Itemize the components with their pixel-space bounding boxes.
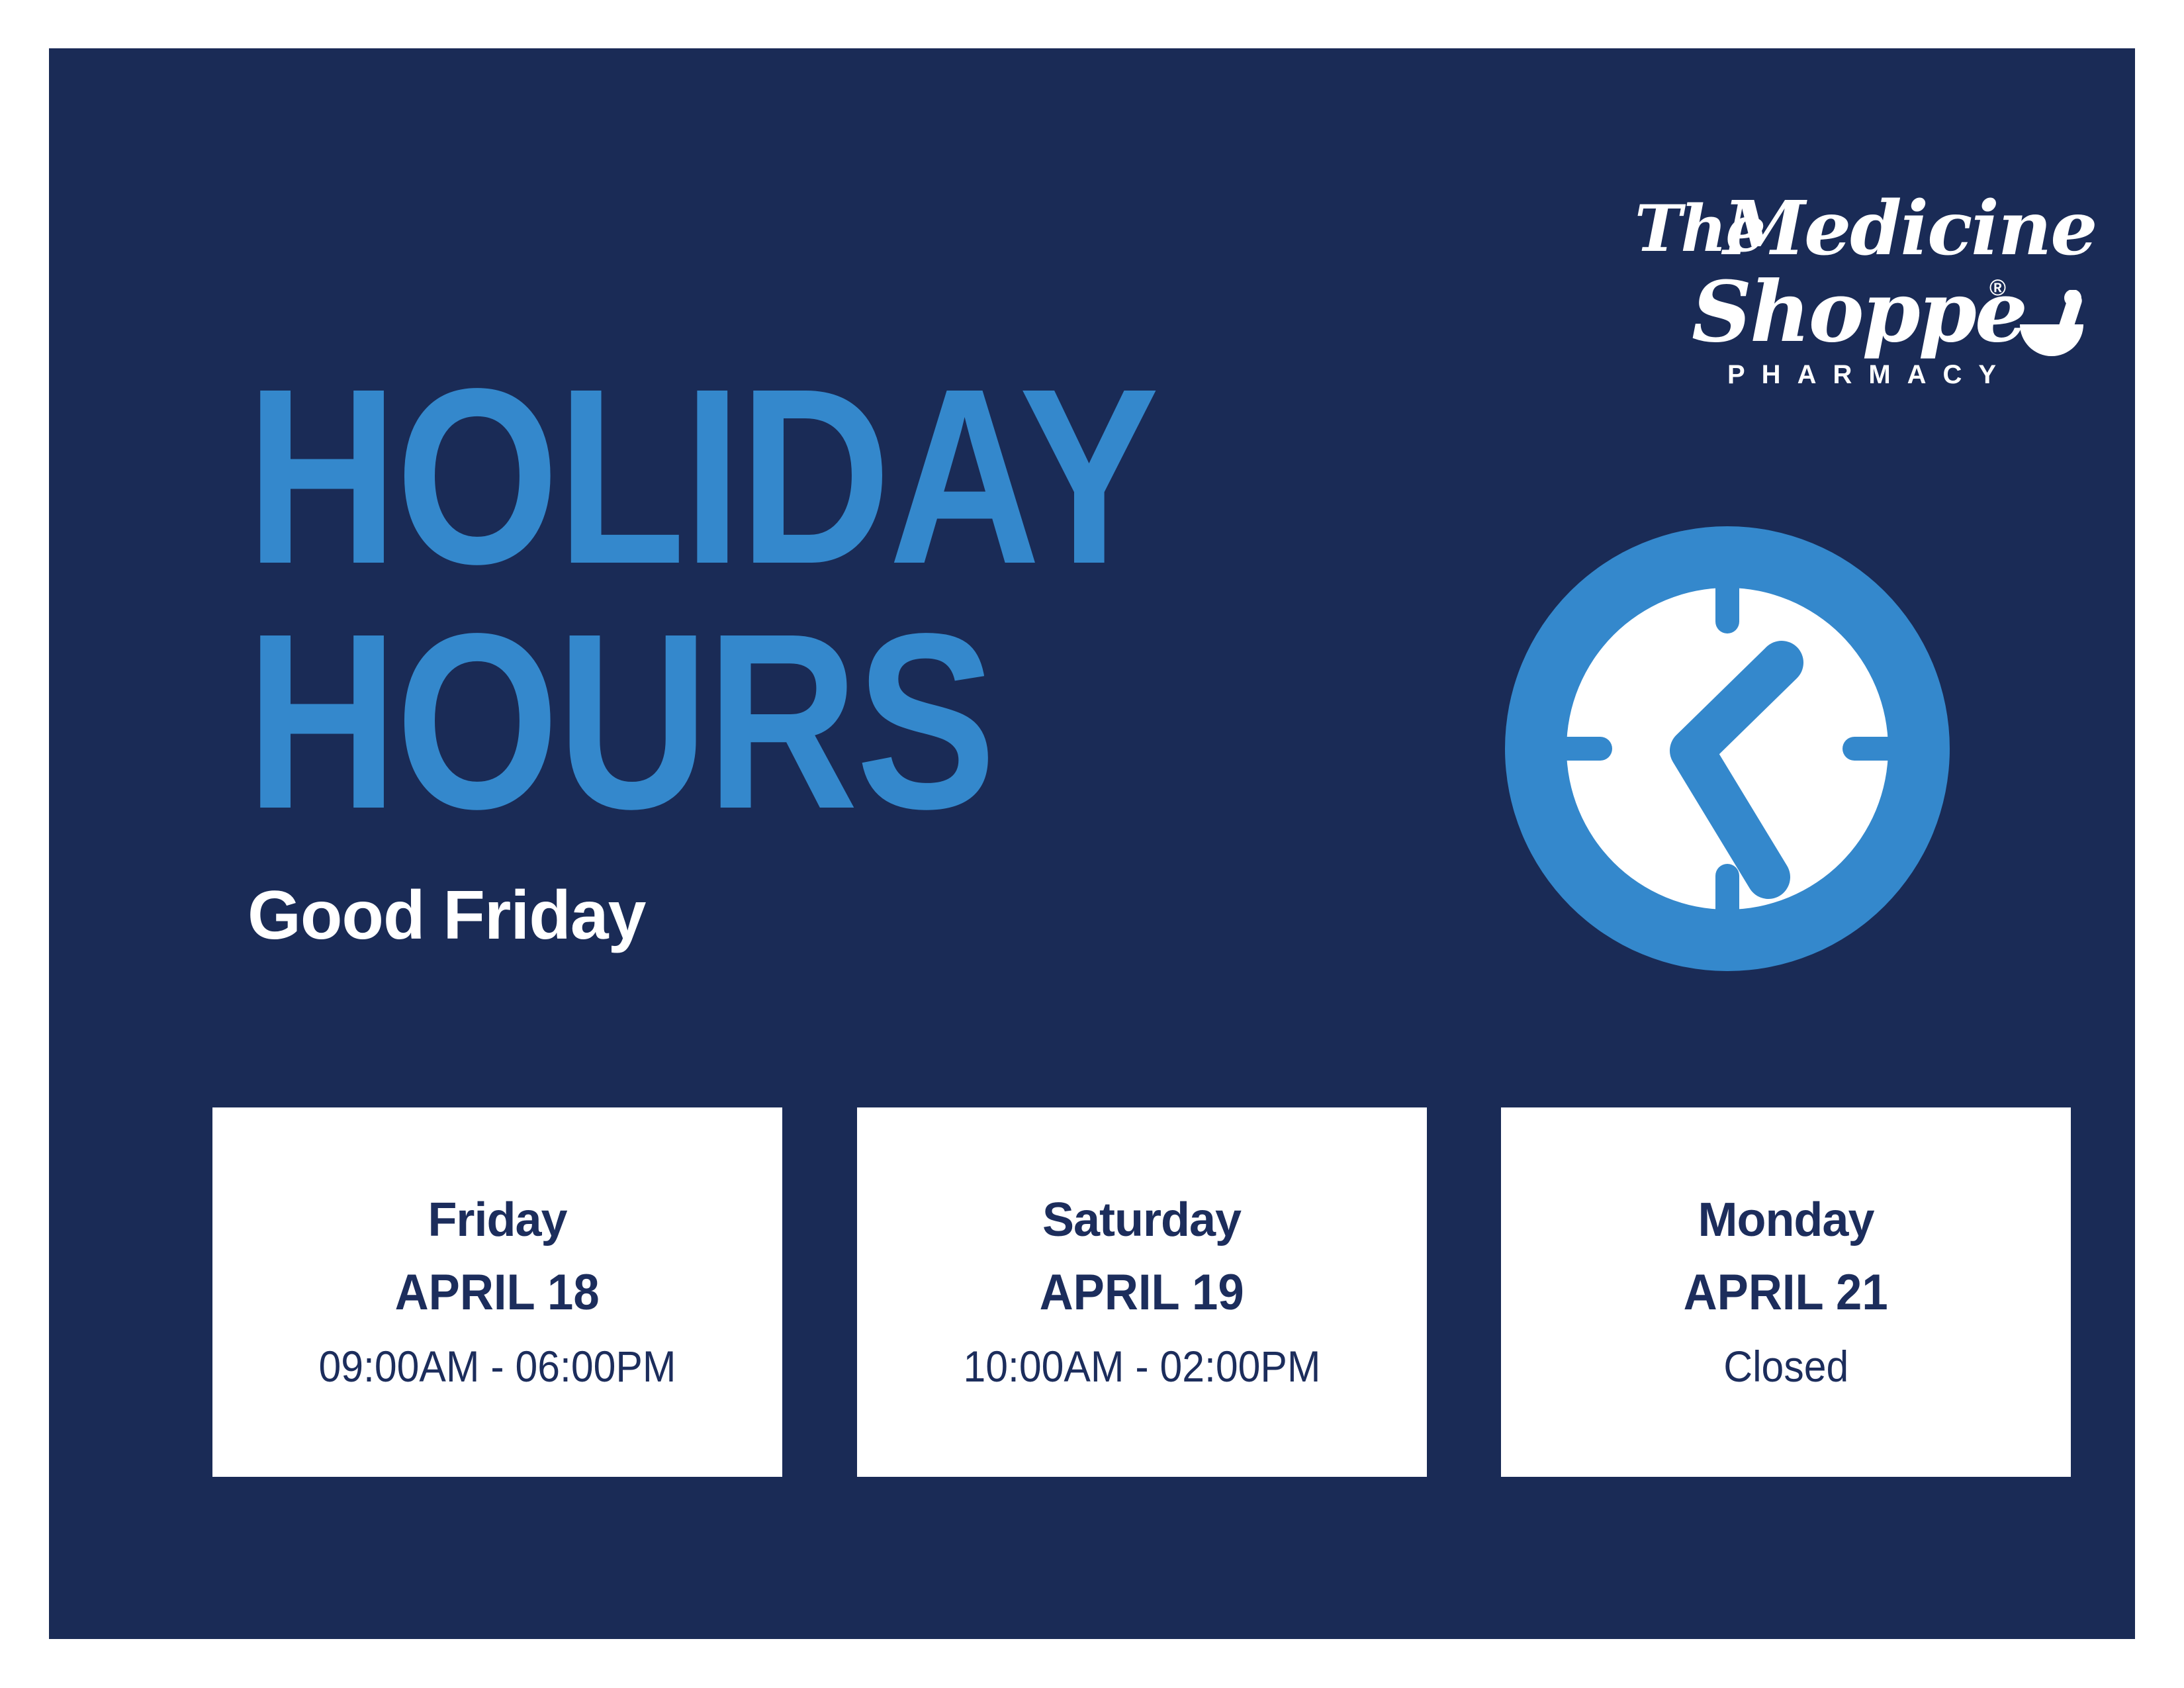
hours-card-list: Friday APRIL 18 09:00AM - 06:00PM Saturd… xyxy=(212,1107,2071,1477)
page-title: HOLIDAY HOURS xyxy=(246,354,1504,845)
card-day-label: Friday xyxy=(428,1196,567,1244)
card-day-label: Monday xyxy=(1698,1196,1874,1244)
hours-card[interactable]: Saturday APRIL 19 10:00AM - 02:00PM xyxy=(857,1107,1427,1477)
holiday-hours-poster: The Medicine Shoppe ® PHARMACY HOLIDAY H… xyxy=(0,0,2184,1688)
headline-line-hours: HOURS xyxy=(246,599,1302,844)
logo-text-shoppe: Shoppe xyxy=(1692,263,2026,361)
logo-text-medicine: Medicine xyxy=(1723,185,2097,272)
card-date-label: APRIL 21 xyxy=(1684,1268,1888,1318)
registered-trademark-icon: ® xyxy=(1989,277,2006,299)
medicine-shoppe-logo: The Medicine Shoppe ® PHARMACY xyxy=(1631,197,2087,402)
holiday-name-subtitle: Good Friday xyxy=(248,881,645,950)
logo-wordmark-medicine: Medicine xyxy=(1723,192,2097,266)
card-hours-label: Closed xyxy=(1723,1344,1848,1388)
mortar-and-pestle-icon xyxy=(2016,290,2087,360)
card-date-label: APRIL 18 xyxy=(395,1268,600,1318)
card-hours-label: 09:00AM - 06:00PM xyxy=(318,1344,676,1388)
logo-wordmark-shoppe: Shoppe xyxy=(1692,270,2026,353)
card-hours-label: 10:00AM - 02:00PM xyxy=(963,1344,1320,1388)
hours-card[interactable]: Friday APRIL 18 09:00AM - 06:00PM xyxy=(212,1107,782,1477)
logo-tagline-pharmacy: PHARMACY xyxy=(1727,361,2013,388)
poster-panel: The Medicine Shoppe ® PHARMACY HOLIDAY H… xyxy=(49,48,2135,1639)
card-day-label: Saturday xyxy=(1042,1196,1241,1244)
clock-icon xyxy=(1505,526,1950,971)
hours-card[interactable]: Monday APRIL 21 Closed xyxy=(1501,1107,2071,1477)
headline-line-holiday: HOLIDAY xyxy=(246,354,1302,599)
card-date-label: APRIL 19 xyxy=(1039,1268,1244,1318)
